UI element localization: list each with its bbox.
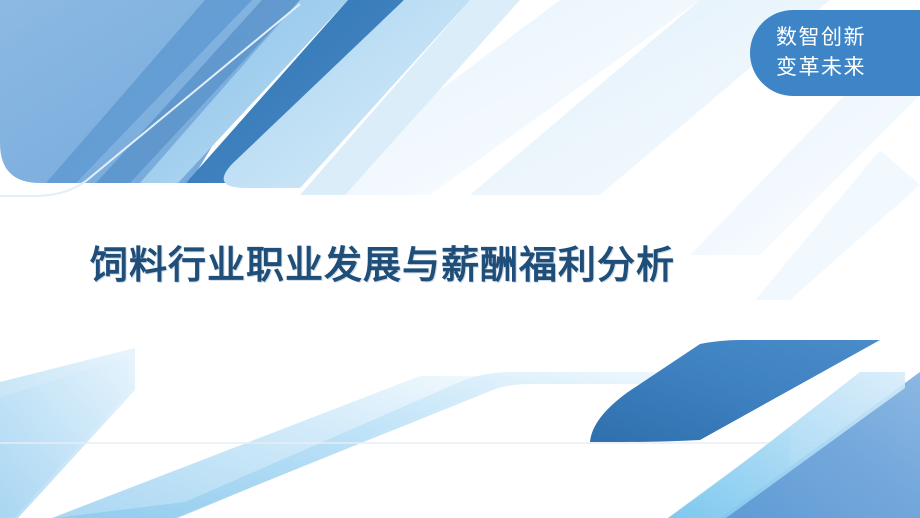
tagline-badge: 数智创新 变革未来 (750, 10, 920, 96)
page-title: 饲料行业职业发展与薪酬福利分析 (90, 234, 675, 289)
tagline-line-1: 数智创新 (776, 23, 866, 53)
tagline-line-2: 变革未来 (776, 53, 866, 83)
title-slide: 数智创新 变革未来 饲料行业职业发展与薪酬福利分析 (0, 0, 920, 518)
